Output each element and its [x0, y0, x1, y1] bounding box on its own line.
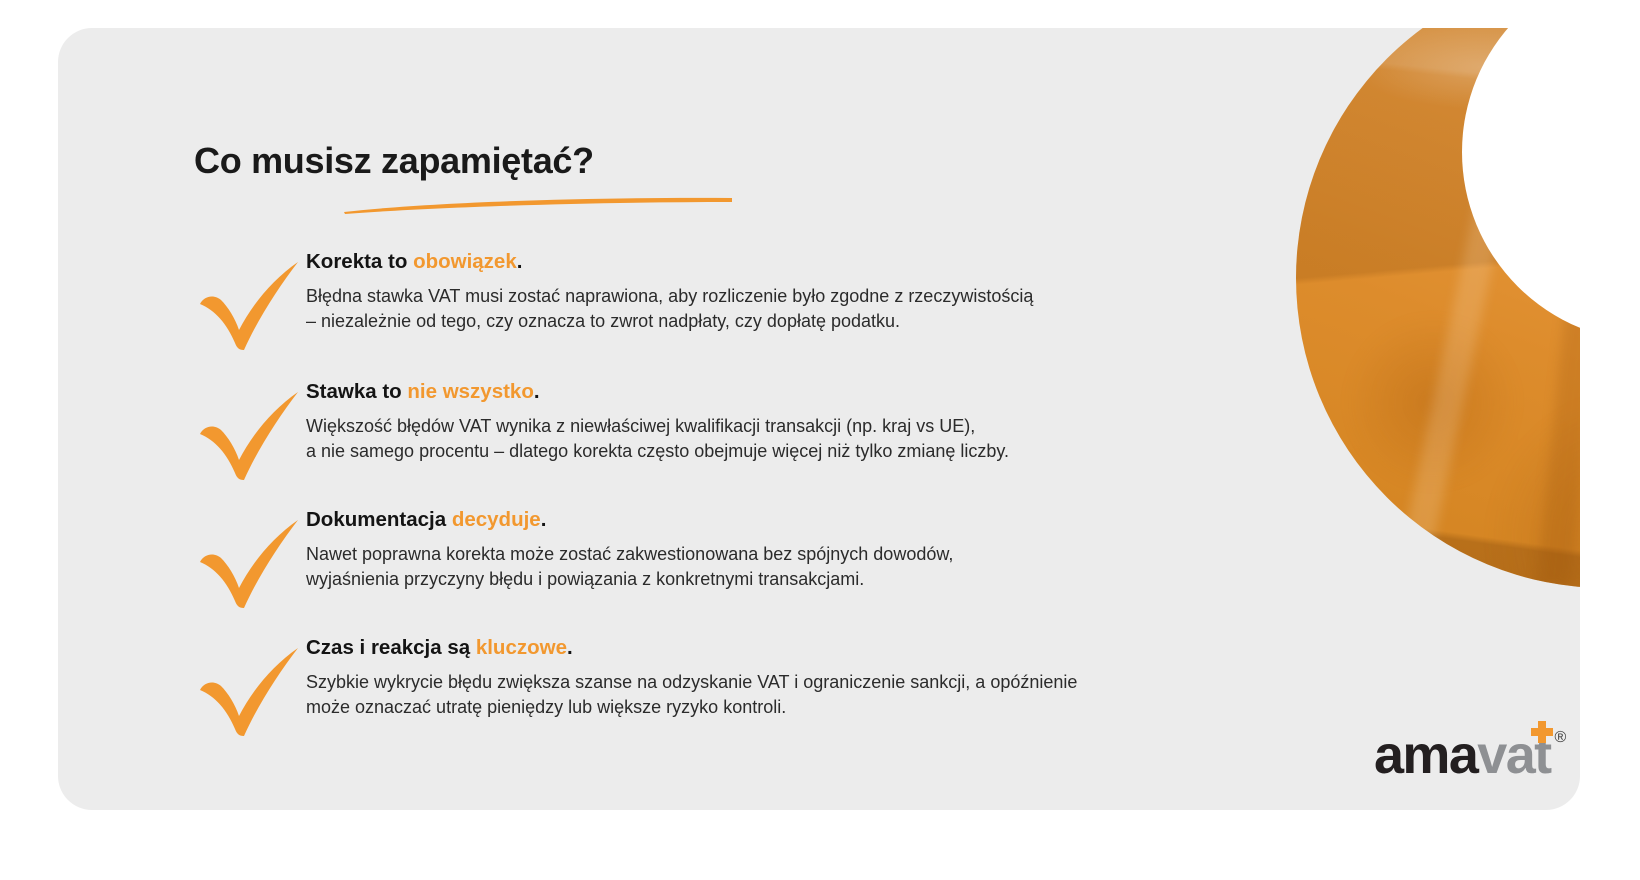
logo-text-t: t — [1534, 725, 1550, 785]
amavat-logo: amavat ® — [1374, 728, 1566, 788]
list-item-text: Korekta to obowiązek. Błędna stawka VAT … — [306, 246, 1314, 335]
heading-suffix: . — [534, 380, 540, 403]
list-item: Dokumentacja decyduje. Nawet poprawna ko… — [194, 504, 1314, 610]
list-item-heading: Stawka to nie wszystko. — [306, 380, 1314, 405]
heading-highlight: kluczowe — [476, 636, 567, 659]
orange-check-icon — [194, 260, 306, 352]
list-item-body: Większość błędów VAT wynika z niewłaściw… — [306, 414, 1314, 465]
list-item: Korekta to obowiązek. Błędna stawka VAT … — [194, 246, 1314, 352]
list-item-text: Dokumentacja decyduje. Nawet poprawna ko… — [306, 504, 1314, 593]
heading-highlight: decyduje — [452, 508, 541, 531]
registered-trademark-symbol: ® — [1555, 730, 1567, 746]
body-line: może oznaczać utratę pieniędzy lub więks… — [306, 695, 1314, 721]
orange-check-icon — [194, 646, 306, 738]
list-item-body: Szybkie wykrycie błędu zwiększa szanse n… — [306, 670, 1314, 721]
logo-wordmark: amavat — [1374, 728, 1551, 782]
list-item-body: Błędna stawka VAT musi zostać naprawiona… — [306, 284, 1314, 335]
heading-highlight: nie wszystko — [407, 380, 533, 403]
body-line: a nie samego procentu – dlatego korekta … — [306, 439, 1314, 465]
orange-plus-icon — [1531, 721, 1553, 743]
heading-suffix: . — [567, 636, 573, 659]
list-item: Czas i reakcja są kluczowe. Szybkie wykr… — [194, 632, 1314, 738]
title-underline-swoosh — [342, 196, 734, 214]
body-line: Błędna stawka VAT musi zostać naprawiona… — [306, 284, 1314, 310]
list-item-body: Nawet poprawna korekta może zostać zakwe… — [306, 542, 1314, 593]
body-line: wyjaśnienia przyczyny błędu i powiązania… — [306, 567, 1314, 593]
heading-prefix: Stawka to — [306, 380, 407, 403]
content-card: Co musisz zapamiętać? Korekta to obowiąz… — [58, 28, 1580, 810]
body-line: Nawet poprawna korekta może zostać zakwe… — [306, 542, 1314, 568]
slide-canvas: Co musisz zapamiętać? Korekta to obowiąz… — [0, 0, 1640, 880]
heading-highlight: obowiązek — [413, 250, 517, 273]
orange-check-icon — [194, 518, 306, 610]
logo-text-ama: ama — [1374, 725, 1477, 785]
body-line: – niezależnie od tego, czy oznacza to zw… — [306, 309, 1314, 335]
logo-text-va: va — [1477, 725, 1534, 785]
list-item-heading: Dokumentacja decyduje. — [306, 508, 1314, 533]
heading-suffix: . — [541, 508, 547, 531]
page-title: Co musisz zapamiętać? — [194, 140, 594, 182]
key-points-list: Korekta to obowiązek. Błędna stawka VAT … — [194, 246, 1314, 738]
heading-prefix: Czas i reakcja są — [306, 636, 476, 659]
list-item-heading: Korekta to obowiązek. — [306, 250, 1314, 275]
card-content: Co musisz zapamiętać? Korekta to obowiąz… — [58, 28, 1580, 810]
orange-check-icon — [194, 390, 306, 482]
list-item: Stawka to nie wszystko. Większość błędów… — [194, 376, 1314, 482]
body-line: Większość błędów VAT wynika z niewłaściw… — [306, 414, 1314, 440]
heading-prefix: Korekta to — [306, 250, 413, 273]
list-item-text: Czas i reakcja są kluczowe. Szybkie wykr… — [306, 632, 1314, 721]
body-line: Szybkie wykrycie błędu zwiększa szanse n… — [306, 670, 1314, 696]
heading-suffix: . — [517, 250, 523, 273]
heading-prefix: Dokumentacja — [306, 508, 452, 531]
list-item-heading: Czas i reakcja są kluczowe. — [306, 636, 1314, 661]
list-item-text: Stawka to nie wszystko. Większość błędów… — [306, 376, 1314, 465]
